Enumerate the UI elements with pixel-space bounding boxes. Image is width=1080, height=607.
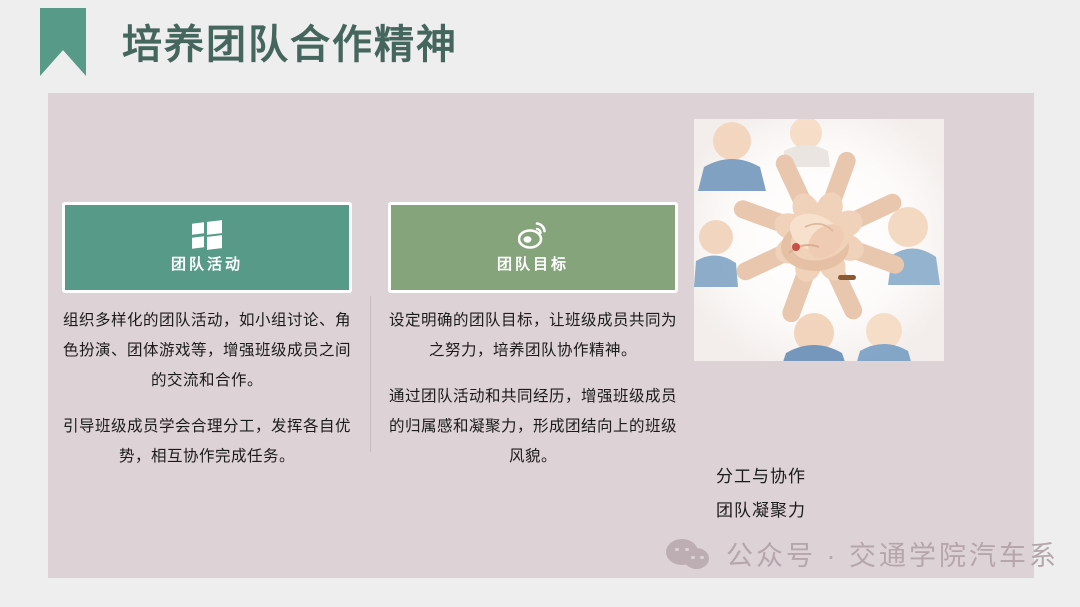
paragraph: 通过团队活动和共同经历，增强班级成员的归属感和凝聚力，形成团结向上的班级风貌。 <box>388 382 678 472</box>
title-bar: 培养团队合作精神 <box>0 0 1080 93</box>
watermark: 公众号 · 交通学院汽车系 <box>666 534 1059 573</box>
paragraph: 引导班级成员学会合理分工，发挥各自优势，相互协作完成任务。 <box>62 412 352 472</box>
slide-canvas: 培养团队合作精神 团队活动 组织多样化的团队活动，如小组讨论、角色扮演、团体游戏… <box>0 0 1080 607</box>
paragraph: 设定明确的团队目标，让班级成员共同为之努力，培养团队协作精神。 <box>388 306 678 366</box>
column-team-activities: 团队活动 组织多样化的团队活动，如小组讨论、角色扮演、团体游戏等，增强班级成员之… <box>62 202 352 472</box>
photo-caption: 团队凝聚力 <box>716 496 806 521</box>
wechat-icon <box>666 539 712 569</box>
card-header-team-goals[interactable]: 团队目标 <box>388 202 678 293</box>
card-header-team-activities[interactable]: 团队活动 <box>62 202 352 293</box>
weibo-eye-icon <box>518 221 548 249</box>
windows-panes-icon <box>192 221 222 249</box>
page-title: 培养团队合作精神 <box>122 19 458 71</box>
column-divider <box>370 296 371 452</box>
team-hands-photo <box>694 119 944 361</box>
column-team-goals: 团队目标 设定明确的团队目标，让班级成员共同为之努力，培养团队协作精神。 通过团… <box>388 202 678 472</box>
bookmark-icon <box>40 8 86 76</box>
card-title-label: 团队活动 <box>171 256 243 274</box>
photo-caption: 分工与协作 <box>716 462 806 487</box>
watermark-text: 公众号 · 交通学院汽车系 <box>726 534 1059 573</box>
paragraph: 组织多样化的团队活动，如小组讨论、角色扮演、团体游戏等，增强班级成员之间的交流和… <box>62 306 352 396</box>
content-panel: 团队活动 组织多样化的团队活动，如小组讨论、角色扮演、团体游戏等，增强班级成员之… <box>48 93 1034 578</box>
card-title-label: 团队目标 <box>497 256 569 274</box>
